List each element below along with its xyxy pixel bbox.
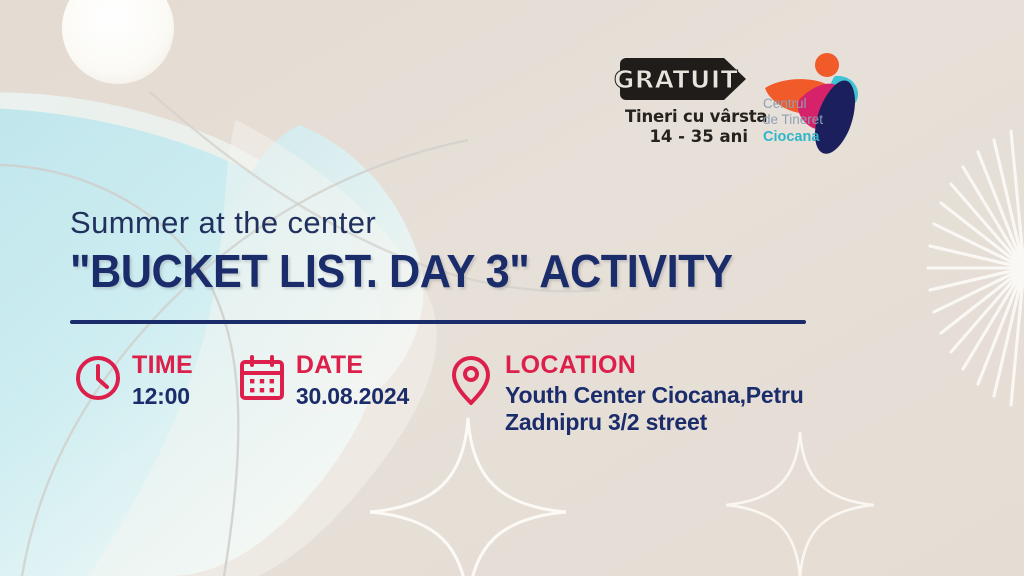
audience-text-1: Tineri cu vârsta (625, 107, 767, 126)
page-title: "BUCKET LIST. DAY 3" ACTIVITY (70, 247, 822, 296)
gratuit-label: GRATUIT (620, 58, 732, 100)
audience-line-1: Tineri cu vârsta (620, 107, 760, 126)
event-details-row: TIME 12:00 (74, 352, 835, 437)
map-pin-icon (447, 354, 495, 411)
centrul-de-tineret-ciocana-logo: Centrul de Tineret Ciocana (757, 48, 867, 160)
logo-line-1: Centrul (763, 96, 807, 111)
headline-block: Summer at the center "BUCKET LIST. DAY 3… (70, 206, 870, 296)
date-label: DATE (296, 352, 409, 380)
location-label: LOCATION (505, 352, 835, 380)
divider-rule (70, 320, 806, 324)
event-location-item: LOCATION Youth Center Ciocana,Petru Zadn… (447, 352, 835, 437)
time-value: 12:00 (132, 382, 193, 411)
date-value: 30.08.2024 (296, 382, 409, 411)
location-value: Youth Center Ciocana,Petru Zadnipru 3/2 … (505, 382, 835, 437)
event-time-item: TIME 12:00 (74, 352, 193, 411)
logo-line-2: de Tineret (763, 112, 823, 127)
clock-icon (74, 354, 122, 407)
gratuit-tag: GRATUIT (620, 58, 750, 100)
event-date-item: DATE 30.08.2024 (238, 352, 409, 411)
event-poster: GRATUIT Tineri cu vârsta 14 - 35 ani (0, 0, 1024, 576)
logo-mark: Centrul de Tineret Ciocana (757, 48, 867, 160)
logo-line-3: Ciocana (763, 129, 820, 145)
kicker-text: Summer at the center (70, 206, 870, 240)
gratuit-badge: GRATUIT Tineri cu vârsta 14 - 35 ani (620, 58, 760, 163)
time-label: TIME (132, 352, 193, 380)
audience-line-2: 14 - 35 ani (620, 127, 748, 146)
logo-head-shape (815, 53, 839, 77)
calendar-icon (238, 354, 286, 407)
